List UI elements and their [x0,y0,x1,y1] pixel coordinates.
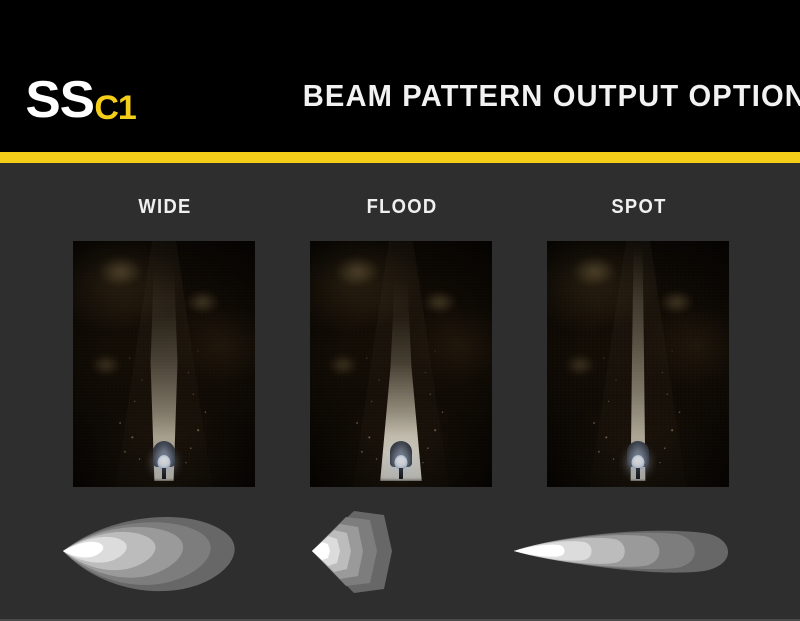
photo-panel-wide [73,241,255,487]
photo-comparison-row [0,241,800,487]
beam-diagram-spot [508,503,748,599]
beam-diagram-flood [300,503,540,599]
beam-diagram-spot-svg [508,503,748,599]
page-title: BEAM PATTERN OUTPUT OPTIONS [303,78,765,114]
photo-vignette [73,241,255,487]
beam-diagram-wide [55,503,295,599]
beam-pattern-diagram-row [0,503,800,599]
column-label-spot: SPOT [554,196,723,219]
column-label-wide: WIDE [80,196,249,219]
beam-layers [63,517,235,591]
header-bar: SSC1 BEAM PATTERN OUTPUT OPTIONS [0,0,800,152]
beam-layer-1 [514,545,565,557]
beam-diagram-wide-svg [55,503,295,599]
accent-divider [0,152,800,163]
beam-layers [514,531,728,573]
photo-panel-flood [310,241,492,487]
brand-logo-secondary: C1 [94,91,135,125]
brand-logo-primary: SS [25,74,94,126]
beam-diagram-flood-svg [300,503,540,599]
photo-panel-spot [547,241,729,487]
column-label-flood: FLOOD [317,196,486,219]
beam-pattern-infographic: SSC1 BEAM PATTERN OUTPUT OPTIONS WIDE FL… [0,0,800,621]
photo-vignette [310,241,492,487]
column-labels: WIDE FLOOD SPOT [0,196,800,224]
photo-vignette [547,241,729,487]
beam-layer-1 [312,542,330,560]
beam-layers [312,511,392,593]
brand-logo: SSC1 [26,74,136,126]
